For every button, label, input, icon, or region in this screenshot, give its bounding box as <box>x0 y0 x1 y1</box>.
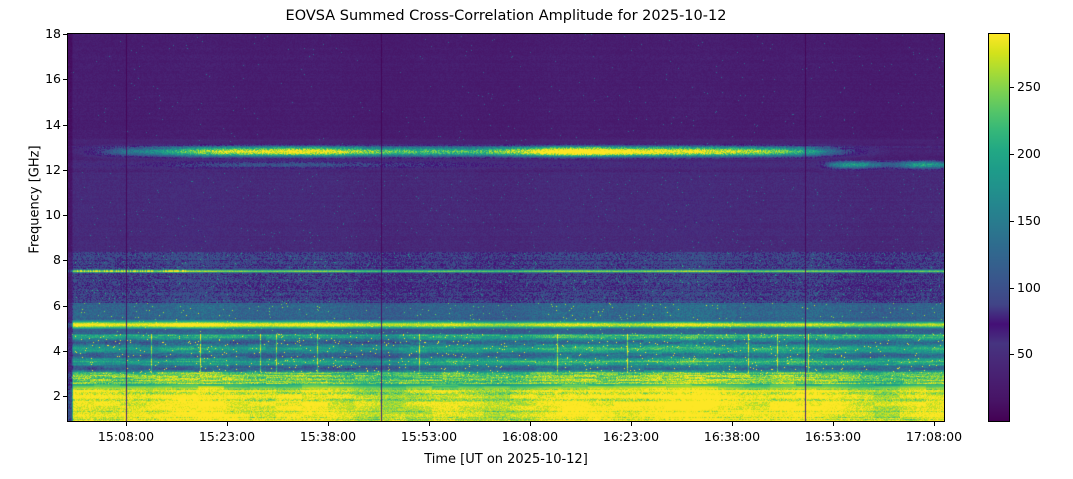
y-tick-label: 8 <box>53 252 61 267</box>
colorbar-tick-label: 100 <box>1017 280 1041 295</box>
x-tick-label: 16:53:00 <box>805 429 861 444</box>
y-tick-label: 14 <box>45 117 61 132</box>
y-tick-label: 2 <box>53 388 61 403</box>
plot-area[interactable] <box>67 33 945 422</box>
y-tick-mark <box>63 306 67 307</box>
x-tick-mark <box>227 422 228 426</box>
x-tick-label: 16:08:00 <box>502 429 558 444</box>
y-tick-mark <box>63 34 67 35</box>
y-tick-mark <box>63 396 67 397</box>
colorbar-tick-mark <box>1010 221 1014 222</box>
x-tick-label: 15:23:00 <box>199 429 255 444</box>
x-tick-mark <box>328 422 329 426</box>
y-tick-mark <box>63 351 67 352</box>
y-tick-label: 18 <box>45 26 61 41</box>
colorbar-tick-label: 200 <box>1017 146 1041 161</box>
colorbar-tick-mark <box>1010 154 1014 155</box>
x-tick-mark <box>126 422 127 426</box>
dynamic-spectrum-image <box>68 34 944 421</box>
y-tick-mark <box>63 260 67 261</box>
x-tick-label: 15:08:00 <box>98 429 154 444</box>
x-tick-label: 15:53:00 <box>401 429 457 444</box>
y-tick-mark <box>63 170 67 171</box>
x-tick-label: 16:38:00 <box>704 429 760 444</box>
y-tick-label: 12 <box>45 162 61 177</box>
x-tick-mark <box>934 422 935 426</box>
x-tick-mark <box>732 422 733 426</box>
page-title: EOVSA Summed Cross-Correlation Amplitude… <box>67 8 945 24</box>
y-tick-mark <box>63 215 67 216</box>
x-tick-mark <box>429 422 430 426</box>
colorbar <box>988 33 1010 422</box>
x-tick-mark <box>530 422 531 426</box>
colorbar-gradient <box>989 34 1009 421</box>
colorbar-tick-mark <box>1010 288 1014 289</box>
colorbar-tick-label: 250 <box>1017 79 1041 94</box>
colorbar-tick-label: 150 <box>1017 213 1041 228</box>
y-tick-label: 6 <box>53 298 61 313</box>
x-tick-mark <box>833 422 834 426</box>
x-tick-label: 17:08:00 <box>906 429 962 444</box>
colorbar-tick-mark <box>1010 87 1014 88</box>
y-tick-mark <box>63 125 67 126</box>
y-tick-label: 4 <box>53 343 61 358</box>
y-tick-label: 16 <box>45 71 61 86</box>
spectrogram-figure: EOVSA Summed Cross-Correlation Amplitude… <box>0 0 1073 479</box>
x-axis-label: Time [UT on 2025-10-12] <box>67 452 945 467</box>
y-axis-label: Frequency [GHz] <box>28 120 43 280</box>
colorbar-tick-label: 50 <box>1017 346 1033 361</box>
colorbar-tick-mark <box>1010 354 1014 355</box>
y-tick-mark <box>63 79 67 80</box>
y-tick-label: 10 <box>45 207 61 222</box>
x-tick-label: 16:23:00 <box>603 429 659 444</box>
x-tick-mark <box>631 422 632 426</box>
x-tick-label: 15:38:00 <box>300 429 356 444</box>
